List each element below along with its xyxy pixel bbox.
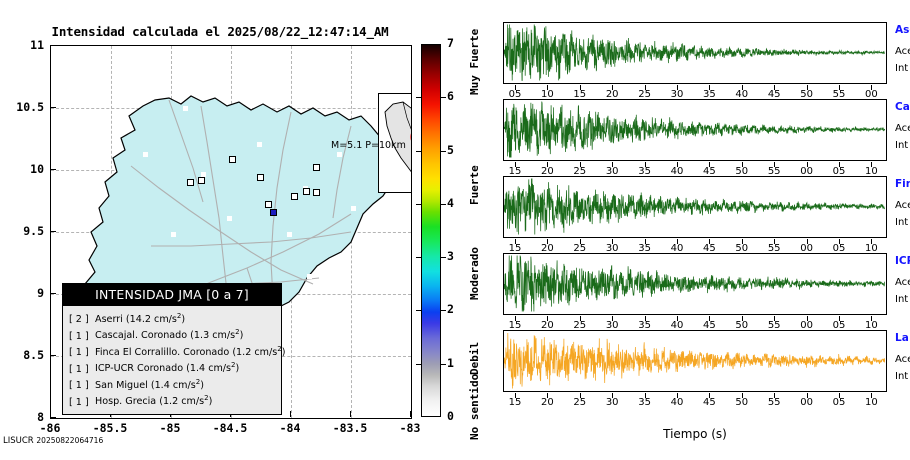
time-tick-label: 40 [665, 397, 689, 408]
legend-row: [ 2 ]Aserri (14.2 cm/s2) [69, 310, 276, 326]
colorbar-tick [416, 257, 421, 258]
station-marker[interactable] [313, 189, 320, 196]
map-x-tick-label: -85.5 [80, 421, 140, 435]
waveform-trace [504, 331, 885, 390]
map-x-tick-label: -84 [260, 421, 320, 435]
watermark: LISUCR 20250822064716 [3, 436, 103, 446]
colorbar-tick [416, 151, 421, 152]
time-tick-label: 50 [730, 397, 754, 408]
jma-intensity-label: Int JMA: 1 [895, 140, 910, 151]
waveform-trace [504, 23, 885, 82]
seismogram-plot[interactable] [503, 22, 887, 84]
station-marker[interactable] [257, 174, 264, 181]
time-tick-label: 10 [859, 397, 883, 408]
page-title: Intensidad calculada el 2025/08/22_12:47… [0, 24, 440, 39]
magnitude-annotation: M=5.1 P=10km [331, 140, 406, 151]
map-x-tick [350, 411, 351, 417]
map-y-tick [50, 293, 56, 294]
seismogram-plot[interactable] [503, 99, 887, 161]
peak-acceleration-label: Acel. Max. 0.9 [895, 46, 910, 57]
jma-intensity-label: Int JMA: 0 [895, 371, 910, 382]
colorbar-tick-label: 1 [447, 356, 454, 370]
colorbar-tick-label: 5 [447, 143, 454, 157]
colorbar-tick-label: 3 [447, 249, 454, 263]
colorbar-tick [441, 97, 446, 98]
station-marker[interactable] [187, 179, 194, 186]
intensity-legend: INTENSIDAD JMA [0 a 7] [ 2 ]Aserri (14.2… [62, 283, 282, 415]
time-tick-label: 30 [600, 397, 624, 408]
map-y-tick-label: 10.5 [0, 100, 44, 114]
time-tick-label: 00 [795, 397, 819, 408]
colorbar-tick [441, 151, 446, 152]
legend-row: [ 1 ]Cascajal. Coronado (1.3 cm/s2) [69, 326, 276, 342]
legend-row: [ 1 ]Hosp. Grecia (1.2 cm/s2) [69, 392, 276, 408]
peak-acceleration-label: Acel. Max. 0.9 [895, 200, 910, 211]
legend-station-name: Cascajal. Coronado (1.3 cm/s [95, 331, 235, 342]
colorbar-tick [441, 310, 446, 311]
colorbar-tick-label: 4 [447, 196, 454, 210]
station-marker[interactable] [265, 201, 272, 208]
time-tick-label: 25 [568, 397, 592, 408]
colorbar-category-label: Moderado [468, 247, 481, 300]
map-y-tick-label: 10 [0, 162, 44, 176]
legend-level: [ 1 ] [69, 396, 95, 409]
map-x-tick-label: -86 [20, 421, 80, 435]
seismogram-plot[interactable] [503, 253, 887, 315]
colorbar-tick [416, 204, 421, 205]
colorbar-category-label: No sentido [468, 374, 481, 440]
time-tick-label: 20 [535, 397, 559, 408]
time-tick-label: 05 [827, 397, 851, 408]
station-name-label[interactable]: Cascajal, Coronado [895, 101, 910, 113]
map-x-tick [410, 411, 411, 417]
peak-acceleration-label: Acel. Max. 0.3 [895, 354, 910, 365]
colorbar-tick-label: 7 [447, 36, 454, 50]
colorbar-tick-label: 0 [447, 409, 454, 423]
map-y-tick [50, 45, 56, 46]
map-y-tick [50, 231, 56, 232]
colorbar-tick [416, 364, 421, 365]
watermark-code: 20250822064716 [36, 436, 103, 445]
map-y-tick [50, 169, 56, 170]
legend-level: [ 1 ] [69, 379, 95, 392]
jma-intensity-label: Int JMA: 1 [895, 63, 910, 74]
watermark-label: LISUCR [3, 436, 34, 446]
map-x-tick-label: -83 [380, 421, 440, 435]
seismogram-plot[interactable] [503, 176, 887, 238]
map-y-tick-label: 9.5 [0, 224, 44, 238]
map-x-tick-label: -85 [140, 421, 200, 435]
peak-acceleration-label: Acel. Max. 0.8 [895, 277, 910, 288]
map-y-tick [50, 355, 56, 356]
legend-tail: ) [209, 397, 213, 408]
legend-station-name: San Miguel (1.4 cm/s [95, 380, 196, 391]
station-marker[interactable] [313, 164, 320, 171]
seismogram-plot[interactable] [503, 330, 887, 392]
waveform-trace [504, 100, 885, 159]
time-tick-label: 45 [697, 397, 721, 408]
waveform-trace [504, 177, 885, 236]
legend-station-name: Finca El Corralillo. Coronado (1.2 cm/s [95, 347, 277, 358]
colorbar-tick [441, 204, 446, 205]
station-marker[interactable] [229, 156, 236, 163]
intensity-colorbar [421, 44, 441, 417]
legend-row: [ 1 ]San Miguel (1.4 cm/s2) [69, 376, 276, 392]
map-y-tick-label: 11 [0, 38, 44, 52]
legend-row: [ 1 ]Finca El Corralillo. Coronado (1.2 … [69, 343, 276, 359]
station-marker[interactable] [198, 177, 205, 184]
station-name-label[interactable]: Aserri [895, 24, 910, 36]
station-marker[interactable] [303, 188, 310, 195]
colorbar-category-label: Fuerte [468, 165, 481, 205]
colorbar-tick [441, 364, 446, 365]
station-marker-aserri[interactable] [270, 209, 277, 216]
station-marker[interactable] [291, 193, 298, 200]
map-x-tick [290, 411, 291, 417]
legend-tail: ) [200, 380, 204, 391]
peak-acceleration-label: Acel. Max. 0.9 [895, 123, 910, 134]
waveform-trace [504, 254, 885, 313]
legend-level: [ 1 ] [69, 330, 95, 343]
legend-tail: ) [240, 331, 244, 342]
jma-intensity-label: Int JMA: 1 [895, 217, 910, 228]
station-name-label[interactable]: ICP-UCR Coronado [895, 255, 910, 267]
time-tick-label: 55 [762, 397, 786, 408]
time-axis-title: Tiempo (s) [503, 427, 887, 441]
legend-level: [ 1 ] [69, 346, 95, 359]
legend-level: [ 2 ] [69, 313, 95, 326]
colorbar-category-label: Debil [468, 342, 481, 375]
legend-title: INTENSIDAD JMA [0 a 7] [63, 284, 281, 306]
jma-intensity-label: Int JMA: 1 [895, 294, 910, 305]
colorbar-gradient [422, 45, 440, 416]
map-y-tick-label: 9 [0, 286, 44, 300]
legend-station-name: Hosp. Grecia (1.2 cm/s [95, 397, 204, 408]
map-y-tick-label: 8.5 [0, 348, 44, 362]
station-name-label[interactable]: La Sabana [895, 332, 910, 344]
map-y-tick [50, 107, 56, 108]
time-axis: 152025303540455055000510 [503, 393, 887, 409]
colorbar-tick-label: 6 [447, 89, 454, 103]
legend-station-name: Aserri (14.2 cm/s [95, 314, 177, 325]
legend-tail: ) [282, 347, 286, 358]
colorbar-tick [416, 310, 421, 311]
map-x-tick-label: -83.5 [320, 421, 380, 435]
colorbar-tick-label: 2 [447, 302, 454, 316]
time-tick-label: 35 [633, 397, 657, 408]
legend-rows: [ 2 ]Aserri (14.2 cm/s2)[ 1 ]Cascajal. C… [63, 306, 281, 414]
legend-tail: ) [181, 314, 185, 325]
legend-level: [ 1 ] [69, 363, 95, 376]
map-y-tick [50, 417, 56, 418]
colorbar-tick [416, 97, 421, 98]
map-x-tick-label: -84.5 [200, 421, 260, 435]
map-x-tick [50, 411, 51, 417]
station-name-label[interactable]: Finca El Corralillo, Coro [895, 178, 910, 190]
legend-tail: ) [236, 364, 240, 375]
legend-row: [ 1 ]ICP-UCR Coronado (1.4 cm/s2) [69, 359, 276, 375]
time-tick-label: 15 [503, 397, 527, 408]
legend-station-name: ICP-UCR Coronado (1.4 cm/s [95, 364, 231, 375]
colorbar-category-label: Muy Fuerte [468, 29, 481, 95]
colorbar-tick [441, 257, 446, 258]
